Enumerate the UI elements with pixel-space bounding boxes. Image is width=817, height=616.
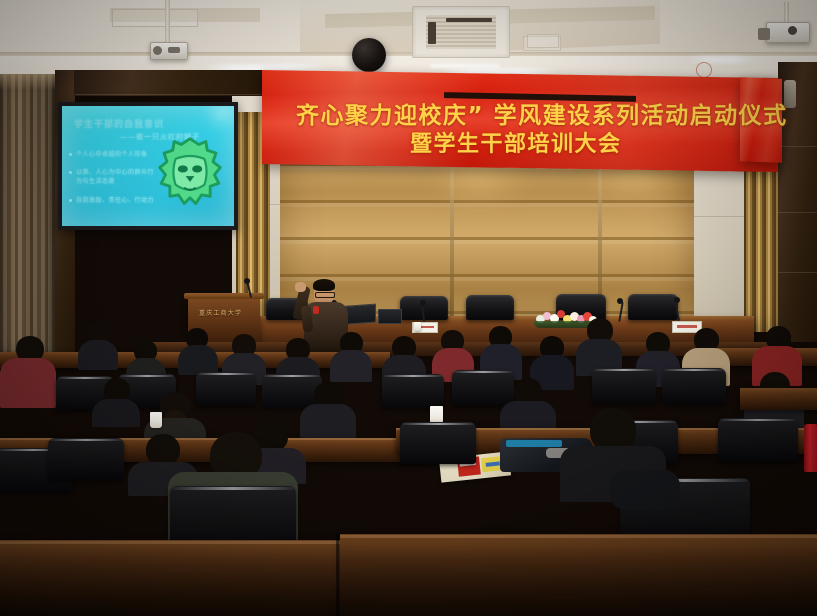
microphone [418, 300, 428, 322]
air-conditioning-vent [412, 6, 510, 58]
paper-cup [150, 412, 162, 428]
conference-hall-photo: 齐心聚力迎校庆” 学风建设系列活动启动仪式 暨学生干部培训大会 学生干部的自我意… [0, 0, 817, 616]
microphone [672, 297, 682, 321]
audience-chair [718, 418, 798, 462]
laptop-second [378, 309, 400, 324]
audience-chair [592, 368, 656, 404]
audience-person [78, 322, 118, 366]
head-table-chair [628, 294, 678, 320]
projector-right [758, 2, 812, 52]
foreground-shadow [0, 546, 817, 616]
slide-bullet-3: 自我激励、责任心、行动力 [76, 196, 154, 205]
banner-line-1: 齐心聚力迎校庆” 学风建设系列活动启动仪式 [296, 96, 788, 130]
ceiling-access-panel-3 [527, 34, 559, 48]
audience-desk-row [740, 388, 817, 410]
ceiling-speaker [352, 38, 386, 72]
head-table-chair [466, 295, 514, 320]
jacket-on-chair [610, 470, 680, 510]
wall-panel-dark-upper-left [74, 70, 264, 96]
lion-head-logo [154, 134, 226, 214]
speaker-badge [313, 306, 319, 314]
red-thermos [804, 424, 817, 472]
audience-person [300, 382, 356, 434]
slide-bullet-1: 个人心中卓越的个人形象 [76, 150, 148, 159]
slide-title: 学生干部的自我意识 [74, 117, 164, 130]
speaker-hair [313, 279, 335, 291]
audience-person [576, 318, 622, 374]
podium-label: 重庆工商大学 [199, 308, 242, 317]
curtain-left [0, 74, 58, 360]
audience-person-maroon-jacket [0, 336, 56, 406]
audience-chair [48, 438, 124, 480]
podium-microphone [244, 278, 254, 300]
projection-screen: 学生干部的自我意识 ——做一只火红的狮子 个人心中卓越的个人形象 以事、人心为中… [62, 106, 234, 226]
audience-person [500, 378, 556, 432]
audience-person [330, 332, 372, 380]
audience-person [92, 378, 140, 422]
audience-person [178, 328, 218, 372]
paper-cup [414, 322, 421, 331]
banner-line-2: 暨学生干部培训大会 [410, 126, 622, 158]
audience-chair [662, 368, 726, 404]
speaker-fist [295, 282, 306, 292]
slide-bullet-2: 以事、人心为中心的群众行为与生活态度 [76, 168, 160, 186]
projector-left [148, 0, 188, 62]
audience-chair [400, 422, 476, 464]
ceiling-cable-detail [696, 62, 712, 78]
curtain-valance [0, 74, 58, 90]
audience-chair [382, 374, 444, 408]
speaker-glasses [315, 292, 335, 298]
